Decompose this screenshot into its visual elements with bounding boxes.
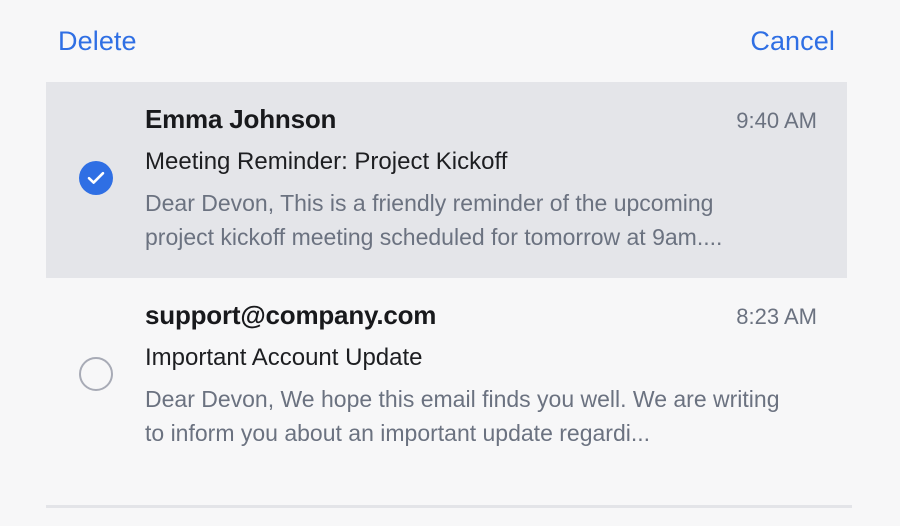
mail-list-item[interactable]: support@company.com 8:23 AM Important Ac… (46, 278, 847, 474)
circle-outline-icon[interactable] (79, 357, 113, 391)
select-cell (46, 357, 145, 391)
selection-toolbar: Delete Cancel (0, 0, 900, 82)
list-divider (46, 505, 852, 508)
select-cell (46, 161, 145, 195)
sender-name: Emma Johnson (145, 104, 336, 135)
timestamp: 8:23 AM (736, 304, 817, 330)
mail-list-item[interactable]: Emma Johnson 9:40 AM Meeting Reminder: P… (46, 82, 847, 278)
sender-name: support@company.com (145, 300, 436, 331)
cancel-button[interactable]: Cancel (750, 28, 835, 55)
subject-line: Meeting Reminder: Project Kickoff (145, 146, 817, 177)
mail-header-line: Emma Johnson 9:40 AM (145, 104, 817, 135)
mail-content: support@company.com 8:23 AM Important Ac… (145, 300, 817, 450)
subject-line: Important Account Update (145, 342, 817, 373)
mail-content: Emma Johnson 9:40 AM Meeting Reminder: P… (145, 104, 817, 254)
preview-text: Dear Devon, This is a friendly reminder … (145, 186, 785, 254)
timestamp: 9:40 AM (736, 108, 817, 134)
mail-header-line: support@company.com 8:23 AM (145, 300, 817, 331)
delete-button[interactable]: Delete (58, 28, 137, 55)
check-circle-filled-icon[interactable] (79, 161, 113, 195)
mail-list: Emma Johnson 9:40 AM Meeting Reminder: P… (0, 82, 900, 474)
preview-text: Dear Devon, We hope this email finds you… (145, 382, 785, 450)
